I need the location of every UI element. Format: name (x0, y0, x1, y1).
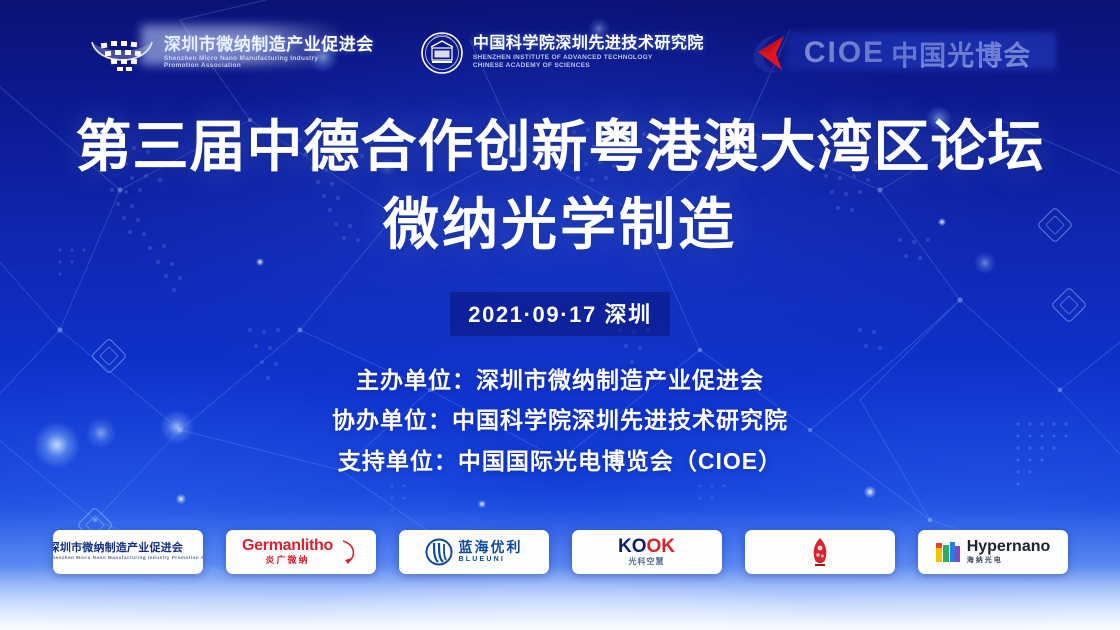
red-swoosh-icon (339, 538, 359, 566)
sparkle-icon (864, 486, 876, 498)
kook-letter-k2: K (661, 536, 675, 557)
sponsor-card-smmipa[interactable]: 深圳市微纳制造产业促进会 Shenzhen Micro Nano Manufac… (53, 530, 203, 574)
kook-letter-o1: O (632, 536, 647, 557)
sponsor-hypernano-cn: 海纳光电 (967, 557, 1051, 564)
header-logo-siat-cn: 中国科学院深圳先进技术研究院 (473, 36, 704, 53)
sponsor-card-hypernano[interactable]: Hypernano 海纳光电 (918, 530, 1068, 574)
blue-wave-circle-icon (425, 538, 453, 566)
cioe-swoosh-icon (750, 30, 800, 76)
poster-title-line-2: 微纳光学制造 (0, 191, 1120, 258)
poster-title-line-1: 第三届中德合作创新粤港澳大湾区论坛 (0, 116, 1120, 179)
sponsor-card-red-seal[interactable] (745, 530, 895, 574)
sponsor-blueuni-cn: 蓝海优利 (459, 540, 523, 555)
kook-letter-o2: O (647, 536, 662, 557)
title-block: 第三届中德合作创新粤港澳大湾区论坛 微纳光学制造 (0, 116, 1120, 258)
organizer-block: 主办单位：深圳市微纳制造产业促进会 协办单位：中国科学院深圳先进技术研究院 支持… (0, 360, 1120, 481)
sponsor-card-blueuni[interactable]: 蓝海优利 BLUEUNI (399, 530, 549, 574)
kook-wordmark-icon: KOOK (618, 537, 675, 556)
sparkle-icon (256, 258, 264, 266)
sponsor-card-kook[interactable]: KOOK 光科空慧 (572, 530, 722, 574)
sponsor-hypernano-wordmark: Hypernano (967, 539, 1051, 556)
header-logo-smmipa-cn: 深圳市微纳制造产业促进会 (164, 36, 374, 54)
sponsor-germanlitho-cn: 炎广微纳 (265, 556, 309, 565)
sponsor-kook-cn: 光科空慧 (629, 558, 665, 566)
sponsor-blueuni-en: BLUEUNI (459, 556, 523, 563)
sparkle-icon (176, 494, 186, 504)
kook-letter-k1: K (618, 536, 632, 557)
sponsor-smmipa-en: Shenzhen Micro Nano Manufacturing Indust… (53, 556, 203, 561)
cas-emblem-icon (420, 31, 464, 75)
cioe-wordmark: CIOE (804, 36, 885, 70)
header-logo-siat: 中国科学院深圳先进技术研究院 SHENZHEN INSTITUTE OF ADV… (420, 31, 704, 75)
header-logo-smmipa-en2: Promotion Association (164, 63, 374, 70)
sponsor-smmipa-cn: 深圳市微纳制造产业促进会 (53, 543, 203, 555)
header-logo-cioe: CIOE 中国光博会 (750, 30, 1031, 76)
conference-poster: 深圳市微纳制造产业促进会 Shenzhen Micro Nano Manufac… (0, 0, 1120, 630)
date-row: 2021·09·17 深圳 (0, 292, 1120, 336)
sponsor-logo-strip: 深圳市微纳制造产业促进会 Shenzhen Micro Nano Manufac… (0, 528, 1120, 576)
cioe-cn-label: 中国光博会 (891, 34, 1031, 73)
header-logo-siat-en2: CHINESE ACADEMY OF SCIENCES (473, 63, 704, 70)
sponsor-germanlitho-wordmark: Germanlitho (242, 538, 333, 555)
date-location-badge: 2021·09·17 深圳 (450, 292, 669, 336)
header-logo-siat-en1: SHENZHEN INSTITUTE OF ADVANCED TECHNOLOG… (473, 55, 704, 62)
organizer-line-supporter: 支持单位：中国国际光电博览会（CIOE） (0, 441, 1120, 481)
rainbow-blocks-icon (935, 539, 961, 565)
header-logo-smmipa-en1: Shenzhen Micro Nano Manufacturing Indust… (164, 56, 374, 63)
globe-grid-icon (89, 31, 155, 75)
red-seal-icon (809, 536, 831, 568)
header-logo-smmipa: 深圳市微纳制造产业促进会 Shenzhen Micro Nano Manufac… (89, 31, 374, 75)
header-logo-bar: 深圳市微纳制造产业促进会 Shenzhen Micro Nano Manufac… (0, 18, 1120, 88)
sponsor-card-germanlitho[interactable]: Germanlitho 炎广微纳 (226, 530, 376, 574)
organizer-line-host: 主办单位：深圳市微纳制造产业促进会 (0, 360, 1120, 400)
sparkle-icon (478, 500, 486, 508)
organizer-line-coorganizer: 协办单位：中国科学院深圳先进技术研究院 (0, 400, 1120, 440)
